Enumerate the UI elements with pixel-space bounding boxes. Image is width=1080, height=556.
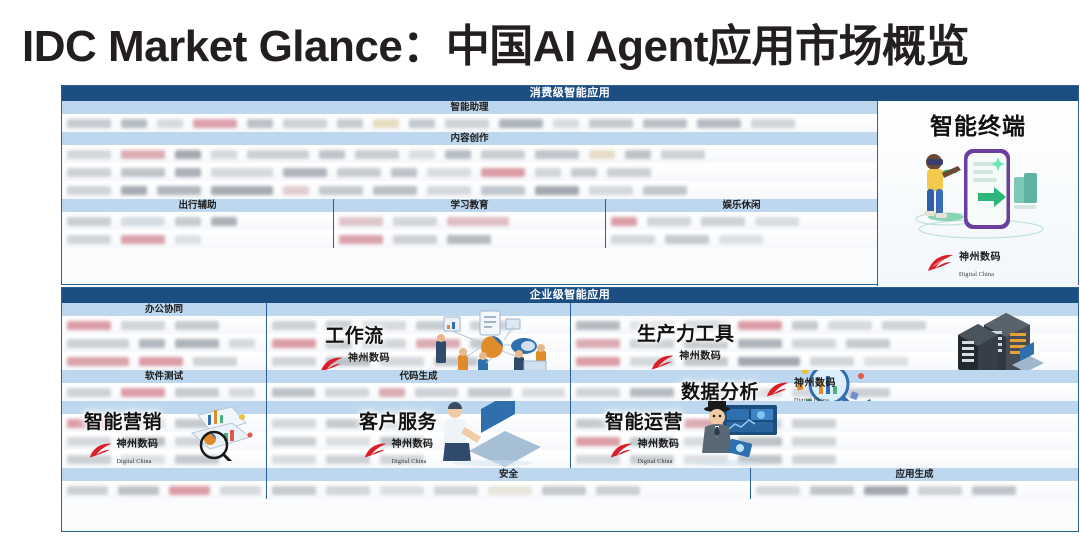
- vendor-logo: [684, 437, 728, 446]
- vendor-logo: [211, 217, 237, 226]
- logo-row: [62, 230, 333, 248]
- vendor-logo: [719, 235, 763, 244]
- logo-row: [267, 334, 570, 352]
- enterprise-middle-row: 软件测试 代码生成: [62, 370, 1078, 401]
- vendor-logo: [810, 357, 854, 366]
- vendor-logo: [67, 455, 111, 464]
- vendor-logo: [272, 455, 316, 464]
- vendor-logo: [121, 235, 165, 244]
- vendor-logo: [175, 419, 219, 428]
- vendor-logo: [576, 388, 620, 397]
- vendor-logo: [121, 168, 165, 177]
- column-security-left-spacer: [62, 468, 267, 499]
- vendor-logo: [576, 321, 620, 330]
- vendor-logo: [380, 419, 424, 428]
- vr-phone-illustration: [886, 133, 1071, 243]
- enterprise-lower-row: 智能营销 神州数码 Digital China: [62, 401, 1078, 468]
- vendor-logo: [326, 486, 370, 495]
- vendor-logo: [571, 168, 597, 177]
- column-security: 安全: [267, 468, 750, 499]
- logo-row: [62, 450, 266, 468]
- vendor-logo: [434, 486, 478, 495]
- vendor-logo: [596, 486, 640, 495]
- digital-china-text: 神州数码 Digital China: [959, 248, 1001, 280]
- vendor-logo: [427, 168, 471, 177]
- vendor-logo: [661, 150, 705, 159]
- vendor-logo: [157, 119, 183, 128]
- subsection-header-operations-spacer: [571, 401, 1078, 414]
- vendor-logo: [630, 437, 674, 446]
- logo-row: [62, 414, 266, 432]
- subsection-header-content: 内容创作: [62, 132, 877, 145]
- vendor-logo: [751, 119, 795, 128]
- vendor-logo: [684, 321, 728, 330]
- vendor-logo: [272, 339, 316, 348]
- logo-row: [267, 481, 750, 499]
- logo-row: [334, 212, 605, 230]
- vendor-logo: [445, 119, 489, 128]
- vendor-logo: [326, 339, 352, 348]
- vendor-logo: [393, 217, 437, 226]
- vendor-logo: [415, 388, 458, 397]
- logo-row: [571, 414, 1078, 432]
- vendor-logo: [864, 357, 908, 366]
- vendor-logo: [247, 150, 309, 159]
- vendor-logo: [427, 186, 471, 195]
- vendor-logo: [380, 357, 424, 366]
- logo-row: [606, 230, 877, 248]
- subsection-header-office: 办公协同: [62, 303, 266, 316]
- vendor-logo: [283, 119, 327, 128]
- subsection-header-security: 安全: [267, 468, 750, 481]
- vendor-logo: [882, 321, 926, 330]
- vendor-logo: [139, 339, 165, 348]
- logo-row: [62, 481, 266, 499]
- vendor-logo: [67, 357, 129, 366]
- column-app-generation: 应用生成: [750, 468, 1078, 499]
- vendor-logo: [470, 339, 496, 348]
- logo-row: [606, 212, 877, 230]
- vendor-logo: [229, 388, 255, 397]
- logo-row: [571, 334, 1078, 352]
- vendor-logo: [522, 388, 565, 397]
- vendor-logo: [373, 186, 417, 195]
- vendor-logo: [175, 150, 201, 159]
- digital-china-swoosh-icon: [926, 253, 956, 275]
- vendor-logo: [67, 437, 111, 446]
- vendor-logo: [67, 168, 111, 177]
- vendor-logo: [67, 235, 111, 244]
- vendor-logo: [542, 486, 586, 495]
- subsection-header-education: 学习教育: [334, 199, 605, 212]
- vendor-logo: [792, 339, 836, 348]
- logo-row: [267, 352, 570, 370]
- vendor-logo: [738, 357, 800, 366]
- vendor-logo: [339, 217, 383, 226]
- vendor-logo: [211, 186, 273, 195]
- vendor-logo: [121, 419, 165, 428]
- vendor-logo: [630, 357, 674, 366]
- vendor-logo: [738, 455, 782, 464]
- vendor-logo: [326, 321, 352, 330]
- consumer-section: 消费级智能应用 智能助理: [61, 85, 1079, 285]
- vendor-logo: [918, 486, 962, 495]
- vendor-logo: [611, 217, 637, 226]
- logo-row: [267, 432, 570, 450]
- subsection-header-workflow-spacer: [267, 303, 570, 316]
- vendor-logo: [643, 186, 687, 195]
- vendor-logo: [211, 168, 273, 177]
- vendor-logo: [589, 119, 633, 128]
- vendor-logo: [470, 321, 514, 330]
- subsection-header-travel: 出行辅助: [62, 199, 333, 212]
- vendor-logo: [283, 186, 309, 195]
- vendor-logo: [67, 486, 108, 495]
- subsection-header-service-spacer: [267, 401, 570, 414]
- logo-row: [571, 316, 1078, 334]
- vendor-logo: [326, 455, 370, 464]
- column-productivity: 生产力工具 神州数码 Digital China: [571, 303, 1078, 370]
- vendor-logo: [792, 455, 836, 464]
- vendor-logo: [630, 388, 674, 397]
- vendor-logo: [67, 321, 111, 330]
- vendor-logo: [643, 119, 687, 128]
- logo-row: [571, 383, 1078, 401]
- logo-row: [62, 212, 333, 230]
- vendor-logo: [121, 217, 165, 226]
- vendor-logo: [283, 168, 327, 177]
- vendor-logo: [211, 150, 237, 159]
- vendor-logo: [67, 339, 129, 348]
- vendor-logo: [810, 486, 854, 495]
- vendor-logo: [121, 186, 147, 195]
- vendor-logo: [121, 388, 165, 397]
- vendor-logo: [589, 186, 633, 195]
- vendor-logo: [630, 321, 674, 330]
- vendor-logo: [738, 388, 782, 397]
- vendor-logo: [792, 419, 836, 428]
- vendor-logo: [272, 357, 316, 366]
- vendor-logo: [468, 388, 511, 397]
- vendor-logo: [625, 150, 651, 159]
- vendor-logo: [684, 388, 728, 397]
- logo-row: [62, 432, 266, 450]
- vendor-logo: [169, 486, 210, 495]
- vendor-logo: [447, 217, 509, 226]
- vendor-logo: [373, 119, 399, 128]
- vendor-logo: [792, 388, 836, 397]
- vendor-logo: [684, 455, 728, 464]
- vendor-logo: [175, 168, 201, 177]
- vendor-logo: [380, 455, 424, 464]
- vendor-logo: [67, 217, 111, 226]
- vendor-logo: [355, 150, 399, 159]
- vendor-logo: [67, 186, 111, 195]
- vendor-logo: [535, 150, 579, 159]
- vendor-logo: [481, 168, 525, 177]
- vendor-logo: [416, 321, 460, 330]
- logo-row: [62, 316, 266, 334]
- logo-row: [334, 230, 605, 248]
- vendor-logo: [272, 321, 316, 330]
- logo-row: [267, 414, 570, 432]
- vendor-logo: [326, 437, 370, 446]
- vendor-logo: [175, 455, 219, 464]
- vendor-logo: [535, 168, 561, 177]
- enterprise-bottom-row: 安全 应用生成: [62, 468, 1078, 499]
- vendor-logo: [121, 119, 147, 128]
- vendor-logo: [756, 486, 800, 495]
- vendor-logo: [326, 419, 370, 428]
- vendor-logo: [846, 388, 890, 397]
- vendor-logo: [319, 186, 363, 195]
- vendor-logo: [409, 119, 435, 128]
- column-testing: 软件测试: [62, 370, 267, 401]
- logo-row: [267, 316, 570, 334]
- logo-row: [62, 352, 266, 370]
- vendor-logo: [630, 455, 674, 464]
- vendor-logo: [326, 357, 370, 366]
- logo-row: [267, 450, 570, 468]
- smart-terminal-panel: 智能终端: [878, 101, 1078, 286]
- vendor-logo: [611, 235, 655, 244]
- vendor-logo: [193, 357, 237, 366]
- vendor-logo: [738, 339, 782, 348]
- subsection-header-entertainment: 娱乐休闲: [606, 199, 877, 212]
- vendor-logo: [229, 339, 255, 348]
- logo-row: [571, 352, 1078, 370]
- subsection-header-analysis-spacer: [571, 370, 1078, 383]
- subsection-travel: 出行辅助: [62, 199, 334, 248]
- vendor-logo: [846, 339, 890, 348]
- vendor-logo: [380, 486, 424, 495]
- logo-row: [571, 432, 1078, 450]
- column-customer-service: 客户服务 神州数码 Digital China: [267, 401, 571, 468]
- vendor-logo: [576, 437, 620, 446]
- subsection-header-code-generation: 代码生成: [267, 370, 570, 383]
- vendor-logo: [630, 339, 674, 348]
- vendor-logo: [738, 437, 782, 446]
- subsection-entertainment: 娱乐休闲: [606, 199, 877, 248]
- vendor-logo: [337, 168, 381, 177]
- vendor-logo: [792, 437, 836, 446]
- vendor-logo: [630, 419, 674, 428]
- vendor-logo: [319, 150, 345, 159]
- vendor-logo: [362, 339, 406, 348]
- vendor-logo: [325, 388, 368, 397]
- vendor-logo: [379, 388, 405, 397]
- logo-row: [62, 181, 877, 199]
- column-code-generation: 代码生成: [267, 370, 571, 401]
- vendor-logo: [175, 217, 201, 226]
- vendor-logo: [121, 455, 165, 464]
- vendor-logo: [499, 119, 543, 128]
- vendor-logo: [67, 150, 111, 159]
- subsection-header-marketing-spacer: [62, 401, 266, 414]
- vendor-logo: [576, 339, 620, 348]
- vendor-logo: [576, 357, 620, 366]
- vendor-logo: [175, 339, 219, 348]
- vendor-logo: [488, 486, 532, 495]
- vendor-logo: [175, 388, 219, 397]
- vendor-logo: [701, 217, 745, 226]
- logo-row: [62, 114, 877, 132]
- vendor-logo: [380, 437, 424, 446]
- vendor-logo: [576, 419, 620, 428]
- smart-terminal-title: 智能终端: [878, 107, 1078, 141]
- vendor-logo: [416, 339, 460, 348]
- vendor-logo: [139, 357, 183, 366]
- vendor-logo: [684, 419, 728, 428]
- subsection-header-assistant: 智能助理: [62, 101, 877, 114]
- vendor-logo: [535, 186, 579, 195]
- subsection-header-productivity-spacer: [571, 303, 1078, 316]
- vendor-logo: [67, 419, 111, 428]
- consumer-categories: 智能助理: [62, 101, 878, 286]
- column-workflow: 工作流 神州数码 Digital China: [267, 303, 571, 370]
- digital-china-logo: 神州数码 Digital China: [926, 248, 1001, 280]
- column-office: 办公协同: [62, 303, 267, 370]
- vendor-logo: [220, 486, 261, 495]
- subsection-header-security-blank: [62, 468, 266, 481]
- vendor-logo: [339, 235, 383, 244]
- vendor-logo: [121, 437, 165, 446]
- vendor-logo: [755, 217, 799, 226]
- logo-row: [267, 383, 570, 401]
- vendor-logo: [481, 150, 525, 159]
- column-operations: 智能运营 神州数码 Digital China: [571, 401, 1078, 468]
- vendor-logo: [193, 119, 237, 128]
- logo-row: [751, 481, 1078, 499]
- vendor-logo: [409, 150, 435, 159]
- vendor-logo: [576, 455, 620, 464]
- vendor-logo: [684, 357, 728, 366]
- page-title: IDC Market Glance：中国AI Agent应用市场概览: [22, 14, 1068, 70]
- vendor-logo: [67, 119, 111, 128]
- column-data-analysis: 数据分析 神州数码 Digital China: [571, 370, 1078, 401]
- vendor-logo: [684, 339, 728, 348]
- vendor-logo: [607, 168, 651, 177]
- vendor-logo: [157, 186, 201, 195]
- vendor-logo: [175, 321, 219, 330]
- logo-row: [62, 145, 877, 163]
- vendor-logo: [175, 437, 219, 446]
- vendor-logo: [447, 235, 491, 244]
- vendor-logo: [665, 235, 709, 244]
- vendor-logo: [553, 119, 579, 128]
- column-marketing: 智能营销 神州数码 Digital China: [62, 401, 267, 468]
- vendor-logo: [272, 437, 316, 446]
- enterprise-band-header: 企业级智能应用: [62, 288, 1078, 303]
- vendor-logo: [247, 119, 273, 128]
- vendor-logo: [272, 419, 316, 428]
- subsection-education: 学习教育: [334, 199, 606, 248]
- enterprise-section: 企业级智能应用 办公协同: [61, 287, 1079, 532]
- vendor-logo: [792, 321, 818, 330]
- vendor-logo: [445, 150, 471, 159]
- subsection-header-testing: 软件测试: [62, 370, 266, 383]
- vendor-logo: [589, 150, 615, 159]
- vendor-logo: [972, 486, 1016, 495]
- subsection-header-app-generation: 应用生成: [751, 468, 1078, 481]
- enterprise-top-row: 办公协同: [62, 303, 1078, 370]
- vendor-logo: [362, 321, 406, 330]
- vendor-logo: [697, 119, 741, 128]
- vendor-logo: [118, 486, 159, 495]
- vendor-logo: [864, 486, 908, 495]
- vendor-logo: [828, 321, 872, 330]
- vendor-logo: [337, 119, 363, 128]
- consumer-tri-columns: 出行辅助 学习教育: [62, 199, 877, 248]
- brand-cn: 神州数码: [959, 252, 1001, 263]
- vendor-logo: [121, 150, 165, 159]
- vendor-logo: [738, 321, 782, 330]
- vendor-logo: [272, 388, 315, 397]
- vendor-logo: [481, 186, 525, 195]
- logo-row: [62, 334, 266, 352]
- vendor-logo: [647, 217, 691, 226]
- vendor-logo: [391, 168, 417, 177]
- logo-row: [62, 383, 266, 401]
- vendor-logo: [272, 486, 316, 495]
- brand-en: Digital China: [959, 272, 994, 278]
- vendor-logo: [434, 357, 478, 366]
- market-glance-infographic: IDC Market Glance：中国AI Agent应用市场概览 消费级智能…: [0, 0, 1080, 556]
- consumer-band-header: 消费级智能应用: [62, 86, 1078, 101]
- logo-row: [62, 163, 877, 181]
- vendor-logo: [738, 419, 782, 428]
- vendor-logo: [393, 235, 437, 244]
- logo-row: [571, 450, 1078, 468]
- vendor-logo: [121, 321, 165, 330]
- vendor-logo: [67, 388, 111, 397]
- vendor-logo: [175, 235, 201, 244]
